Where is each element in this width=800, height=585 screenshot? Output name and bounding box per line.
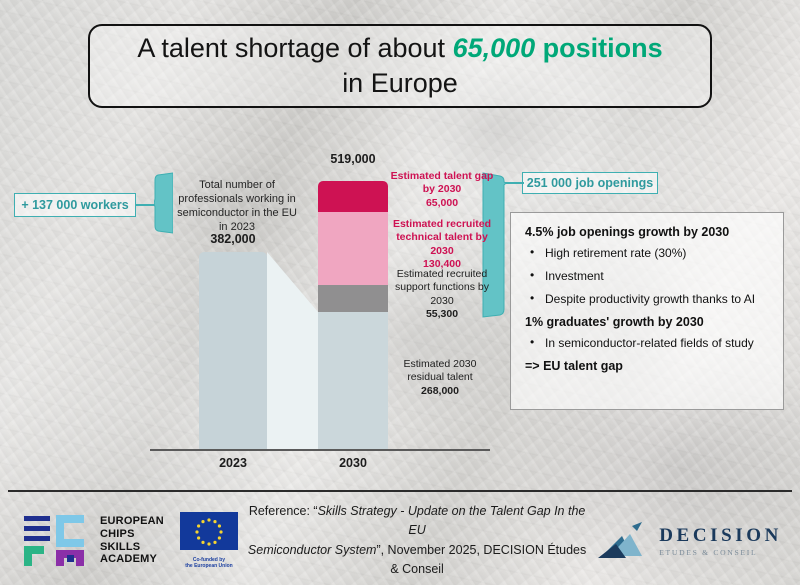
reference-prefix: Reference: “ xyxy=(249,504,318,518)
decision-name: DECISION xyxy=(659,525,782,547)
footer-bar: EUROPEAN CHIPS SKILLS ACADEMY xyxy=(0,496,800,585)
note-support-functions-value: 55,300 xyxy=(388,308,496,321)
info-heading-job-openings: 4.5% job openings growth by 2030 xyxy=(525,225,769,239)
note-technical-talent: Estimated recruited technical talent by … xyxy=(388,218,496,272)
bar-segment-talent-gap xyxy=(318,181,388,212)
callout-workers-added: + 137 000 workers xyxy=(14,193,136,217)
ecsa-line-1: EUROPEAN xyxy=(100,515,164,528)
info-conclusion: => EU talent gap xyxy=(525,359,769,373)
note-support-functions-label: Estimated recruited support functions by… xyxy=(388,268,496,308)
chart-axis-line xyxy=(150,449,490,451)
reference-title-part1: Skills Strategy - Update on the Talent G… xyxy=(318,504,586,537)
note-residual-talent: Estimated 2030 residual talent 268,000 xyxy=(386,358,494,398)
reference-title-part2: Semiconductor System xyxy=(248,543,377,557)
ecsa-line-4: ACADEMY xyxy=(100,553,164,566)
slide-canvas: A talent shortage of about 65,000 positi… xyxy=(0,0,800,585)
ecsa-wordmark: EUROPEAN CHIPS SKILLS ACADEMY xyxy=(100,515,164,565)
ecsa-mark-icon xyxy=(22,512,94,570)
reference-suffix: ”, November 2025, DECISION Études & Cons… xyxy=(376,543,586,576)
bar-2030-stacked xyxy=(318,181,388,449)
note-residual-talent-label: Estimated 2030 residual talent xyxy=(386,358,494,385)
bar-segment-technical-talent xyxy=(318,212,388,285)
decision-wordmark: DECISION ETUDES & CONSEIL xyxy=(659,525,782,557)
bar-segment-residual-talent xyxy=(318,312,388,449)
ecsa-line-2: CHIPS xyxy=(100,528,164,541)
note-total-professionals-text: Total number of professionals working in… xyxy=(177,179,297,233)
title-box: A talent shortage of about 65,000 positi… xyxy=(88,24,712,108)
callout-job-openings: 251 000 job openings xyxy=(522,172,658,194)
title-line2: in Europe xyxy=(342,68,458,98)
note-support-functions: Estimated recruited support functions by… xyxy=(388,268,496,322)
page-title: A talent shortage of about 65,000 positi… xyxy=(123,31,676,100)
ecsa-logo: EUROPEAN CHIPS SKILLS ACADEMY xyxy=(22,512,164,570)
note-talent-gap-label: Estimated talent gap by 2030 xyxy=(390,170,494,197)
note-residual-talent-value: 268,000 xyxy=(386,385,494,398)
ecsa-line-3: SKILLS xyxy=(100,541,164,554)
axis-category-2023: 2023 xyxy=(185,456,281,470)
axis-category-2030: 2030 xyxy=(305,456,401,470)
info-bullet-investment: Investment xyxy=(525,269,769,283)
eu-cofunding-caption: Co-funded by the European Union xyxy=(180,557,238,570)
title-highlight-number: 65,000 xyxy=(453,33,536,63)
note-total-professionals: Total number of professionals working in… xyxy=(176,178,298,234)
note-talent-gap-value: 65,000 xyxy=(390,197,494,210)
bar-segment-support-functions xyxy=(318,285,388,312)
title-highlight-word: positions xyxy=(535,33,663,63)
decision-mark-icon xyxy=(596,520,652,562)
decision-logo: DECISION ETUDES & CONSEIL xyxy=(596,520,782,562)
info-panel: 4.5% job openings growth by 2030 High re… xyxy=(510,212,784,410)
info-bullet-productivity: Despite productivity growth thanks to AI xyxy=(525,292,769,306)
bar-connector-shape xyxy=(267,252,318,449)
note-technical-talent-label: Estimated recruited technical talent by … xyxy=(388,218,496,258)
info-heading-graduates: 1% graduates' growth by 2030 xyxy=(525,315,769,329)
eu-flag-icon xyxy=(180,512,238,550)
bar-value-label-2030: 519,000 xyxy=(305,152,401,166)
title-line1-pre: A talent shortage of about xyxy=(137,33,452,63)
decision-tagline: ETUDES & CONSEIL xyxy=(659,548,782,557)
footer-divider xyxy=(8,490,792,492)
info-bullet-retirement: High retirement rate (30%) xyxy=(525,246,769,260)
reference-citation: Reference: “Skills Strategy - Update on … xyxy=(238,502,596,580)
info-bullet-fields-of-study: In semiconductor-related fields of study xyxy=(525,336,769,350)
bracket-left-icon xyxy=(154,172,173,234)
note-talent-gap: Estimated talent gap by 2030 65,000 xyxy=(390,170,494,210)
eu-cofunding-logo: Co-funded by the European Union xyxy=(180,512,238,570)
eu-caption-line-2: the European Union xyxy=(180,563,238,569)
bar-2023 xyxy=(199,252,267,449)
